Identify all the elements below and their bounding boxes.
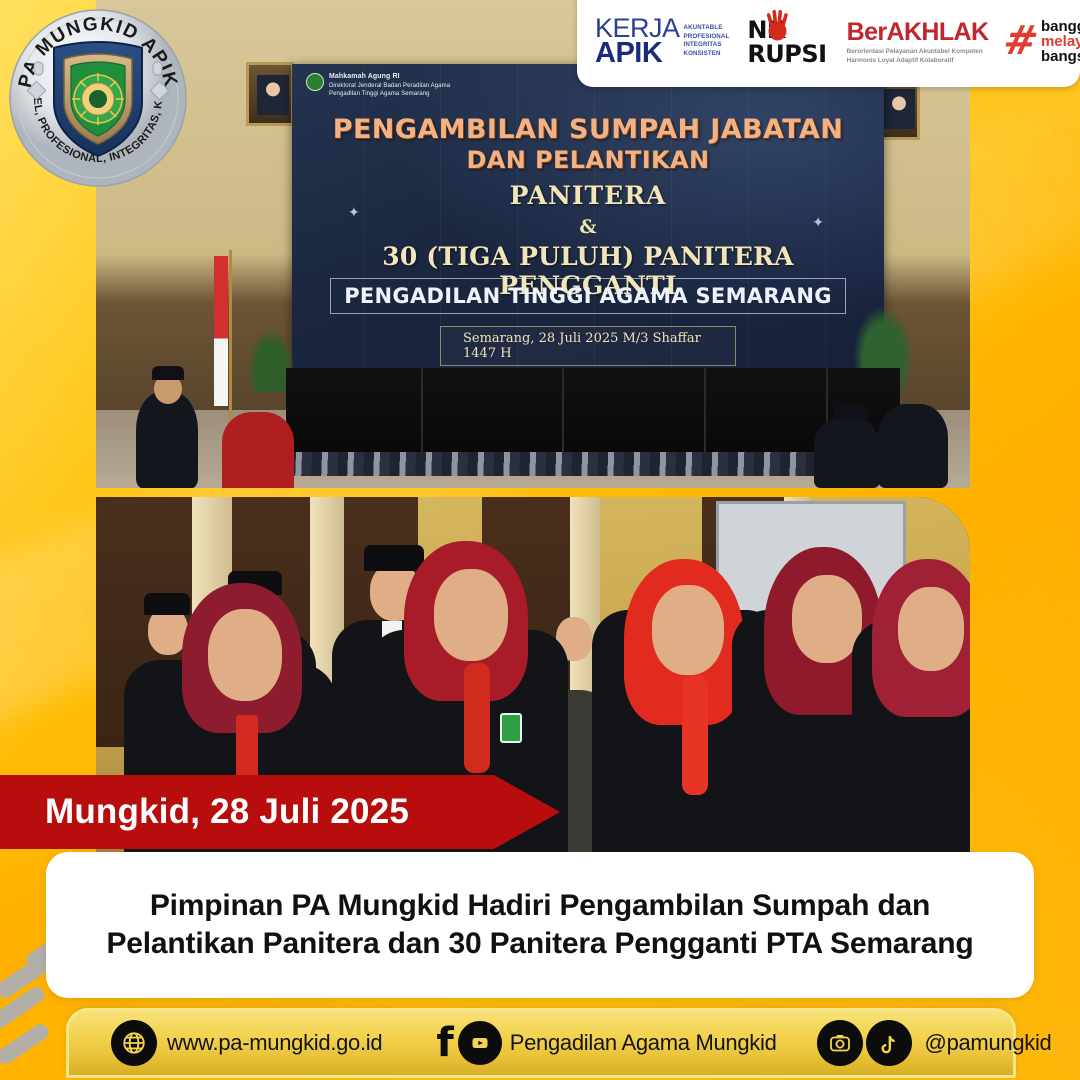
songkok-icon	[834, 404, 868, 420]
attendee-silhouette	[814, 418, 880, 488]
official-face	[208, 609, 282, 701]
kerja-sub-0: AKUNTABLE	[684, 24, 730, 33]
attendee-silhouette	[878, 404, 948, 488]
pa-mungkid-apik-seal: PA MUNGKID APIK AKUNTABEL, PROFESIONAL, …	[6, 6, 190, 190]
no-korupsi-logo: NK RUPSI	[747, 18, 826, 66]
red-scarf	[682, 675, 708, 795]
globe-icon[interactable]	[111, 1020, 157, 1066]
date-ribbon-label: Mungkid, 28 Juli 2025	[45, 792, 409, 832]
bangga-melayani-bangsa-logo: # bangga melayani bangsa	[1004, 19, 1080, 65]
backdrop-headline-2: DAN PELANTIKAN	[292, 146, 884, 174]
kerja-sub-3: KONSISTEN	[684, 50, 730, 59]
facebook-icon[interactable]: f	[436, 1027, 453, 1059]
backdrop-role-1: PANITERA	[292, 181, 884, 210]
kerja-sub-2: INTEGRITAS	[684, 41, 730, 50]
event-backdrop-banner: Mahkamah Agung RI Direktorat Jenderal Ba…	[292, 64, 884, 386]
footer-social-label[interactable]: Pengadilan Agama Mungkid	[510, 1030, 777, 1056]
backdrop-org-line3: Pengadilan Tinggi Agama Semarang	[329, 91, 430, 97]
backdrop-court-frame: PENGADILAN TINGGI AGAMA SEMARANG	[330, 278, 846, 314]
date-ribbon: Mungkid, 28 Juli 2025	[0, 775, 560, 849]
red-scarf	[464, 663, 490, 773]
kerja-apik-logo: KERJA APIK AKUNTABLE PROFESIONAL INTEGRI…	[595, 17, 729, 66]
footer-handle-group[interactable]: @pamungkid	[817, 1020, 1052, 1066]
instagram-icon[interactable]	[817, 1020, 863, 1066]
backdrop-date: Semarang, 28 Juli 2025 M/3 Shaffar 1447 …	[440, 326, 736, 366]
bangga-line2: melayani	[1041, 34, 1080, 49]
berakhlak-label: BerAKHLAK	[847, 18, 989, 47]
footer-contact-bar: www.pa-mungkid.go.id f Pengadilan Agama …	[66, 1008, 1016, 1078]
caption-card: Pimpinan PA Mungkid Hadiri Pengambilan S…	[46, 852, 1034, 998]
tiktok-icon[interactable]	[866, 1020, 912, 1066]
apik-label: APIK	[595, 41, 680, 67]
berakhlak-sub1: Berorientasi Pelayanan Akuntabel Kompete…	[847, 47, 989, 56]
stage-carpet	[286, 452, 900, 476]
backdrop-org-line1: Mahkamah Agung RI	[329, 72, 450, 82]
berakhlak-sub2: Harmonis Loyal Adaptif Kolaboratif	[847, 56, 989, 65]
stage-skirt	[286, 368, 900, 454]
youtube-icon[interactable]	[458, 1021, 502, 1065]
official-face	[898, 587, 964, 671]
songkok-icon	[152, 366, 184, 380]
berakhlak-logo: BerAKHLAK Berorientasi Pelayanan Akuntab…	[847, 18, 989, 66]
backdrop-court-name: PENGADILAN TINGGI AGAMA SEMARANG	[344, 284, 832, 308]
red-hand-icon	[763, 9, 793, 43]
footer-website-group[interactable]: www.pa-mungkid.go.id	[111, 1020, 382, 1066]
kerja-sub-1: PROFESIONAL	[684, 33, 730, 42]
songkok-icon	[144, 593, 190, 615]
backdrop-headline-1: PENGAMBILAN SUMPAH JABATAN	[292, 114, 884, 145]
backdrop-org-line2: Direktorat Jenderal Badan Peradilan Agam…	[329, 83, 450, 89]
bangga-line1: bangga	[1041, 19, 1080, 34]
court-emblem-icon	[306, 73, 324, 91]
program-logos-banner: KERJA APIK AKUNTABLE PROFESIONAL INTEGRI…	[577, 0, 1080, 87]
wall-portrait-left	[246, 62, 294, 126]
footer-handle-label[interactable]: @pamungkid	[925, 1030, 1052, 1056]
official-face	[434, 569, 508, 661]
backdrop-org-header: Mahkamah Agung RI Direktorat Jenderal Ba…	[306, 72, 450, 98]
attendee-silhouette	[222, 412, 294, 488]
id-badge	[500, 713, 522, 743]
footer-social-group[interactable]: f Pengadilan Agama Mungkid	[436, 1021, 776, 1065]
indonesian-flag	[214, 256, 228, 406]
caption-headline: Pimpinan PA Mungkid Hadiri Pengambilan S…	[46, 887, 1034, 964]
bangga-line3: bangsa	[1041, 49, 1080, 64]
songkok-icon	[364, 545, 424, 571]
footer-website-label[interactable]: www.pa-mungkid.go.id	[167, 1030, 382, 1056]
official-face	[652, 585, 724, 675]
backdrop-ampersand: &	[292, 216, 884, 238]
attendee-silhouette	[136, 392, 198, 488]
hash-icon: #	[1001, 25, 1041, 57]
